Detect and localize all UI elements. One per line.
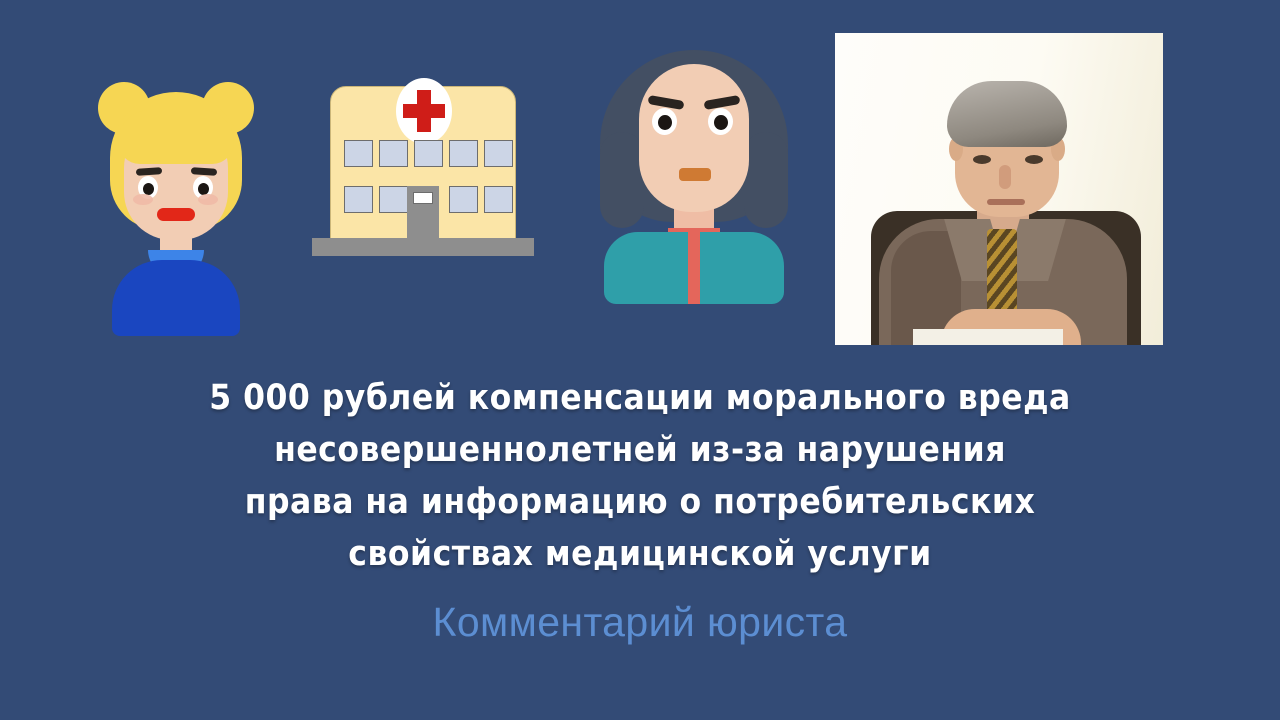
hospital-window [379, 186, 408, 213]
girl-mouth [157, 208, 195, 221]
woman-jacket-left [604, 232, 688, 304]
girl-cheek-left [133, 194, 153, 205]
title-line: 5 000 рублей компенсации морального вред… [64, 372, 1216, 424]
lawyer-mouth [987, 199, 1025, 205]
woman-eye-right [708, 108, 733, 135]
hospital-window [344, 186, 373, 213]
girl-avatar [88, 72, 264, 292]
hospital-window [414, 140, 443, 167]
hospital-window [344, 140, 373, 167]
title-line: права на информацию о потребительских [64, 476, 1216, 528]
hospital-window [484, 140, 513, 167]
woman-eye-left [652, 108, 677, 135]
hospital-door-window [413, 192, 433, 204]
lawyer-hair [947, 81, 1067, 147]
hospital-window [449, 186, 478, 213]
hospital-window [484, 186, 513, 213]
title-line: свойствах медицинской услуги [64, 528, 1216, 580]
woman-hair-side-right [744, 132, 788, 228]
hospital-icon [312, 78, 534, 266]
lawyer-nose [999, 165, 1011, 189]
girl-fringe [118, 110, 234, 164]
woman-jacket-right [700, 232, 784, 304]
hospital-window [449, 140, 478, 167]
woman-avatar [592, 42, 796, 292]
hospital-base [312, 238, 534, 256]
title-line: несовершеннолетней из-за нарушения [64, 424, 1216, 476]
slide-root: 5 000 рублей компенсации морального вред… [0, 0, 1280, 720]
hospital-red-cross-horizontal [403, 104, 445, 118]
slide-subtitle: Комментарий юриста [64, 598, 1216, 646]
woman-hair-side-left [600, 132, 644, 228]
girl-cheek-right [198, 194, 218, 205]
lawyer-eye-right [1025, 155, 1043, 164]
woman-face [639, 64, 749, 212]
desk-paper [913, 329, 1063, 345]
slide-title: 5 000 рублей компенсации морального вред… [64, 372, 1216, 580]
lawyer-eye-left [973, 155, 991, 164]
woman-pupil-left [658, 115, 672, 130]
lawyer-photo [835, 33, 1163, 345]
woman-mouth [679, 168, 711, 181]
woman-pupil-right [714, 115, 728, 130]
hospital-window [379, 140, 408, 167]
girl-shirt [112, 260, 240, 336]
